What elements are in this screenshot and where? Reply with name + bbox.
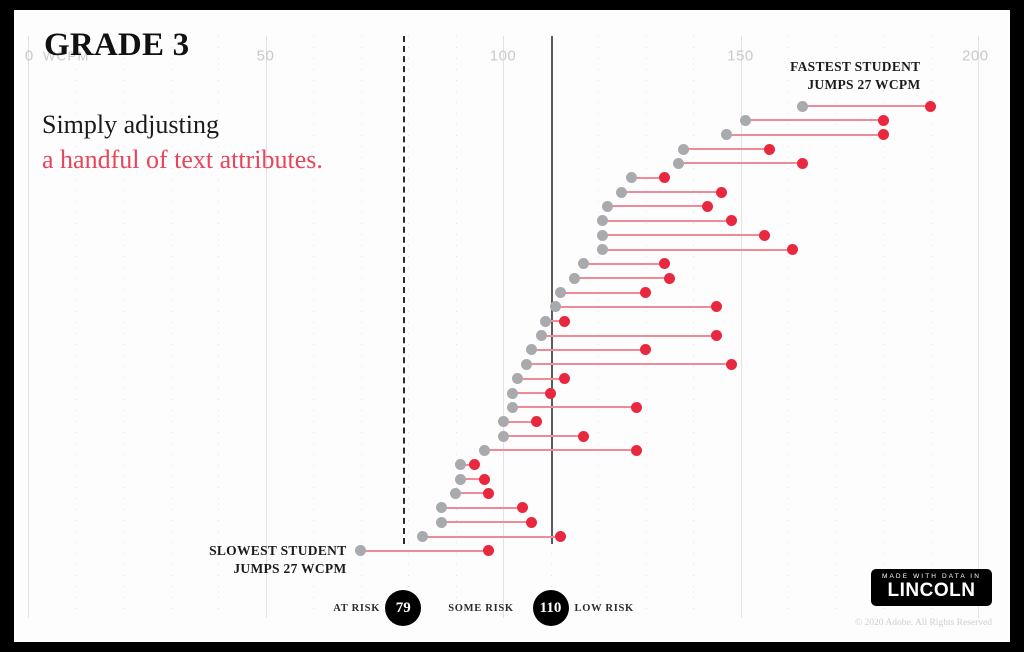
chart-minor-gridline xyxy=(788,36,789,618)
threshold-line-110 xyxy=(551,36,553,544)
lincoln-wordmark: LINCOLN xyxy=(882,581,981,600)
dumbbell-dot-after xyxy=(925,101,936,112)
dumbbell-dot-after xyxy=(526,517,537,528)
copyright-notice: © 2020 Adobe. All Rights Reserved xyxy=(855,618,992,628)
dumbbell-dot-before xyxy=(512,373,523,384)
dumbbell-connector xyxy=(513,406,637,408)
dumbbell-dot-before xyxy=(673,158,684,169)
dumbbell-connector xyxy=(745,119,883,121)
dumbbell-connector xyxy=(422,536,560,538)
chart-plot-area: 050100150200WCPM xyxy=(14,10,1010,642)
screenshot-frame: 050100150200WCPM GRADE 3 Simply adjustin… xyxy=(0,0,1024,652)
lincoln-made-with-text: MADE WITH DATA IN xyxy=(882,573,981,580)
at-risk-label: AT RISK xyxy=(333,603,380,614)
dumbbell-connector xyxy=(527,363,731,365)
subheadline-line-1: Simply adjusting xyxy=(42,108,323,143)
dumbbell-dot-after xyxy=(702,201,713,212)
dumbbell-dot-after xyxy=(517,502,528,513)
dumbbell-dot-after xyxy=(659,172,670,183)
chart-minor-gridline xyxy=(836,36,837,618)
dumbbell-dot-after xyxy=(787,244,798,255)
lincoln-brand-badge: MADE WITH DATA IN LINCOLN xyxy=(871,569,992,606)
dumbbell-dot-before xyxy=(498,416,509,427)
dumbbell-dot-before xyxy=(436,502,447,513)
x-axis-tick-label: 200 xyxy=(962,48,989,65)
at-risk-threshold-badge: 79 xyxy=(385,590,421,626)
chart-minor-gridline xyxy=(361,36,362,618)
dumbbell-dot-before xyxy=(498,431,509,442)
dumbbell-connector xyxy=(679,162,803,164)
x-axis-tick-label: 0 xyxy=(25,48,34,65)
dumbbell-connector xyxy=(603,234,765,236)
dumbbell-dot-before xyxy=(597,215,608,226)
dumbbell-dot-before xyxy=(597,244,608,255)
x-axis-tick-label: 100 xyxy=(490,48,517,65)
dumbbell-dot-after xyxy=(631,402,642,413)
dumbbell-dot-before xyxy=(521,359,532,370)
dumbbell-dot-after xyxy=(764,144,775,155)
dumbbell-connector xyxy=(555,306,717,308)
chart-minor-gridline xyxy=(931,36,932,618)
dumbbell-dot-after xyxy=(664,273,675,284)
x-axis-tick-label: 50 xyxy=(257,48,275,65)
slide-canvas: 050100150200WCPM GRADE 3 Simply adjustin… xyxy=(14,10,1010,642)
dumbbell-connector xyxy=(802,105,930,107)
dumbbell-dot-before xyxy=(678,144,689,155)
dumbbell-dot-before xyxy=(555,287,566,298)
dumbbell-connector xyxy=(560,292,646,294)
dumbbell-dot-after xyxy=(483,488,494,499)
chart-gridline xyxy=(503,36,504,618)
dumbbell-dot-before xyxy=(455,474,466,485)
threshold-line-79 xyxy=(403,36,405,544)
fastest-student-annotation: FASTEST STUDENT JUMPS 27 WCPM xyxy=(721,58,921,94)
dumbbell-dot-before xyxy=(569,273,580,284)
dumbbell-connector xyxy=(441,521,531,523)
slowest-student-annotation-line-2: JUMPS 27 WCPM xyxy=(209,560,347,578)
dumbbell-connector xyxy=(574,277,669,279)
dumbbell-dot-before xyxy=(797,101,808,112)
chart-minor-gridline xyxy=(408,36,409,618)
dumbbell-dot-after xyxy=(659,258,670,269)
dumbbell-dot-before xyxy=(355,545,366,556)
dumbbell-dot-before xyxy=(602,201,613,212)
dumbbell-dot-before xyxy=(626,172,637,183)
dumbbell-connector xyxy=(726,134,883,136)
dumbbell-dot-before xyxy=(455,459,466,470)
low-risk-threshold-badge: 110 xyxy=(533,590,569,626)
dumbbell-dot-before xyxy=(507,402,518,413)
dumbbell-dot-after xyxy=(631,445,642,456)
dumbbell-dot-before xyxy=(540,316,551,327)
page-title: GRADE 3 xyxy=(44,27,189,64)
dumbbell-dot-after xyxy=(878,115,889,126)
subheadline: Simply adjusting a handful of text attri… xyxy=(42,108,323,177)
fastest-student-annotation-line-2: JUMPS 27 WCPM xyxy=(721,76,921,94)
subheadline-line-2: a handful of text attributes. xyxy=(42,143,323,178)
dumbbell-dot-after xyxy=(545,388,556,399)
dumbbell-dot-after xyxy=(759,230,770,241)
dumbbell-dot-after xyxy=(716,187,727,198)
dumbbell-connector xyxy=(622,191,722,193)
dumbbell-dot-after xyxy=(640,344,651,355)
dumbbell-connector xyxy=(484,449,636,451)
dumbbell-dot-after xyxy=(878,129,889,140)
dumbbell-dot-after xyxy=(797,158,808,169)
dumbbell-dot-after xyxy=(469,459,480,470)
dumbbell-dot-before xyxy=(507,388,518,399)
dumbbell-dot-after xyxy=(483,545,494,556)
dumbbell-dot-before xyxy=(740,115,751,126)
dumbbell-dot-before xyxy=(597,230,608,241)
dumbbell-connector xyxy=(603,220,731,222)
chart-gridline xyxy=(28,36,29,618)
dumbbell-dot-before xyxy=(450,488,461,499)
dumbbell-connector xyxy=(608,205,708,207)
slowest-student-annotation-line-1: SLOWEST STUDENT xyxy=(209,542,347,560)
dumbbell-dot-before xyxy=(550,301,561,312)
dumbbell-connector xyxy=(541,335,717,337)
dumbbell-dot-after xyxy=(640,287,651,298)
dumbbell-connector xyxy=(532,349,646,351)
dumbbell-dot-after xyxy=(726,215,737,226)
chart-minor-gridline xyxy=(598,36,599,618)
dumbbell-dot-before xyxy=(479,445,490,456)
dumbbell-dot-after xyxy=(479,474,490,485)
dumbbell-connector xyxy=(503,435,584,437)
some-risk-label: SOME RISK xyxy=(448,603,514,614)
chart-minor-gridline xyxy=(456,36,457,618)
dumbbell-dot-before xyxy=(436,517,447,528)
dumbbell-dot-before xyxy=(578,258,589,269)
dumbbell-connector xyxy=(517,378,565,380)
dumbbell-connector xyxy=(684,148,770,150)
dumbbell-connector xyxy=(361,550,489,552)
slowest-student-annotation: SLOWEST STUDENT JUMPS 27 WCPM xyxy=(209,542,347,578)
dumbbell-dot-after xyxy=(559,316,570,327)
chart-minor-gridline xyxy=(693,36,694,618)
low-risk-label: LOW RISK xyxy=(575,603,634,614)
dumbbell-dot-after xyxy=(711,301,722,312)
dumbbell-connector xyxy=(584,263,665,265)
dumbbell-dot-before xyxy=(721,129,732,140)
dumbbell-dot-after xyxy=(531,416,542,427)
dumbbell-dot-before xyxy=(536,330,547,341)
dumbbell-dot-before xyxy=(616,187,627,198)
dumbbell-dot-before xyxy=(526,344,537,355)
fastest-student-annotation-line-1: FASTEST STUDENT xyxy=(721,58,921,76)
dumbbell-dot-after xyxy=(559,373,570,384)
chart-gridline xyxy=(978,36,979,618)
dumbbell-dot-after xyxy=(555,531,566,542)
chart-minor-gridline xyxy=(646,36,647,618)
dumbbell-connector xyxy=(441,507,522,509)
dumbbell-dot-after xyxy=(711,330,722,341)
dumbbell-dot-after xyxy=(578,431,589,442)
dumbbell-dot-before xyxy=(417,531,428,542)
dumbbell-connector xyxy=(603,249,793,251)
dumbbell-dot-after xyxy=(726,359,737,370)
